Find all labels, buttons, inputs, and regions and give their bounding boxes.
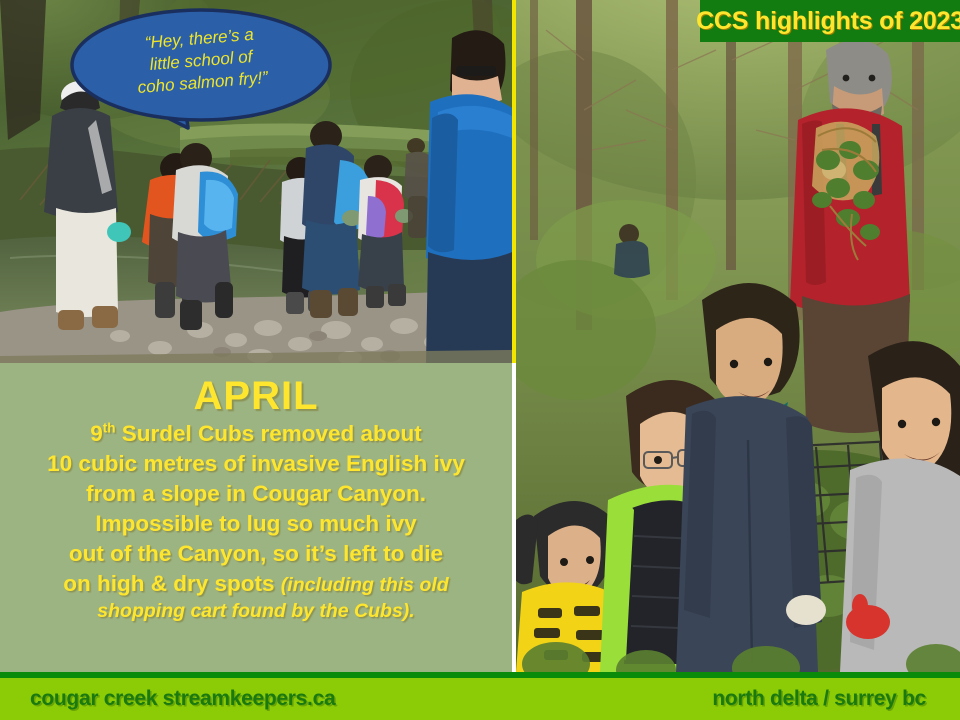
caption-line-6-italic: (including this old	[281, 574, 449, 596]
caption-line-1-prefix: 9	[90, 421, 103, 446]
footer-bar: cougar creek streamkeepers.ca north delt…	[0, 678, 960, 720]
caption-line-7: shopping cart found by the Cubs).	[6, 599, 506, 625]
caption-line-3: from a slope in Cougar Canyon.	[6, 479, 506, 509]
caption-line-1-rest: Surdel Cubs removed about	[115, 421, 421, 446]
caption-panel: APRIL 9th Surdel Cubs removed about 10 c…	[0, 363, 512, 672]
yellow-separator-strip	[512, 0, 516, 363]
page-title: CCS highlights of 2023	[696, 7, 960, 36]
caption-line-2: 10 cubic metres of invasive English ivy	[6, 449, 506, 479]
caption-body: 9th Surdel Cubs removed about 10 cubic m…	[0, 419, 512, 624]
caption-line-4: Impossible to lug so much ivy	[6, 509, 506, 539]
caption-line-1-ordinal-sup: th	[103, 421, 116, 436]
poster-slide: CCS highlights of 2023 “Hey, there’s a l…	[0, 0, 960, 720]
caption-line-6-plain: on high & dry spots	[63, 571, 281, 596]
header-banner: CCS highlights of 2023	[700, 0, 960, 42]
caption-line-5: out of the Canyon, so it’s left to die	[6, 539, 506, 569]
photo-cubs-ivy-removal	[516, 0, 960, 672]
footer-location: north delta / surrey bc	[712, 687, 926, 711]
caption-line-6: on high & dry spots (including this old	[6, 569, 506, 599]
footer-website: cougar creek streamkeepers.ca	[30, 687, 335, 711]
caption-month: APRIL	[0, 375, 512, 417]
speech-bubble: “Hey, there’s a little school of coho sa…	[70, 8, 332, 124]
caption-line-1: 9th Surdel Cubs removed about	[6, 419, 506, 449]
